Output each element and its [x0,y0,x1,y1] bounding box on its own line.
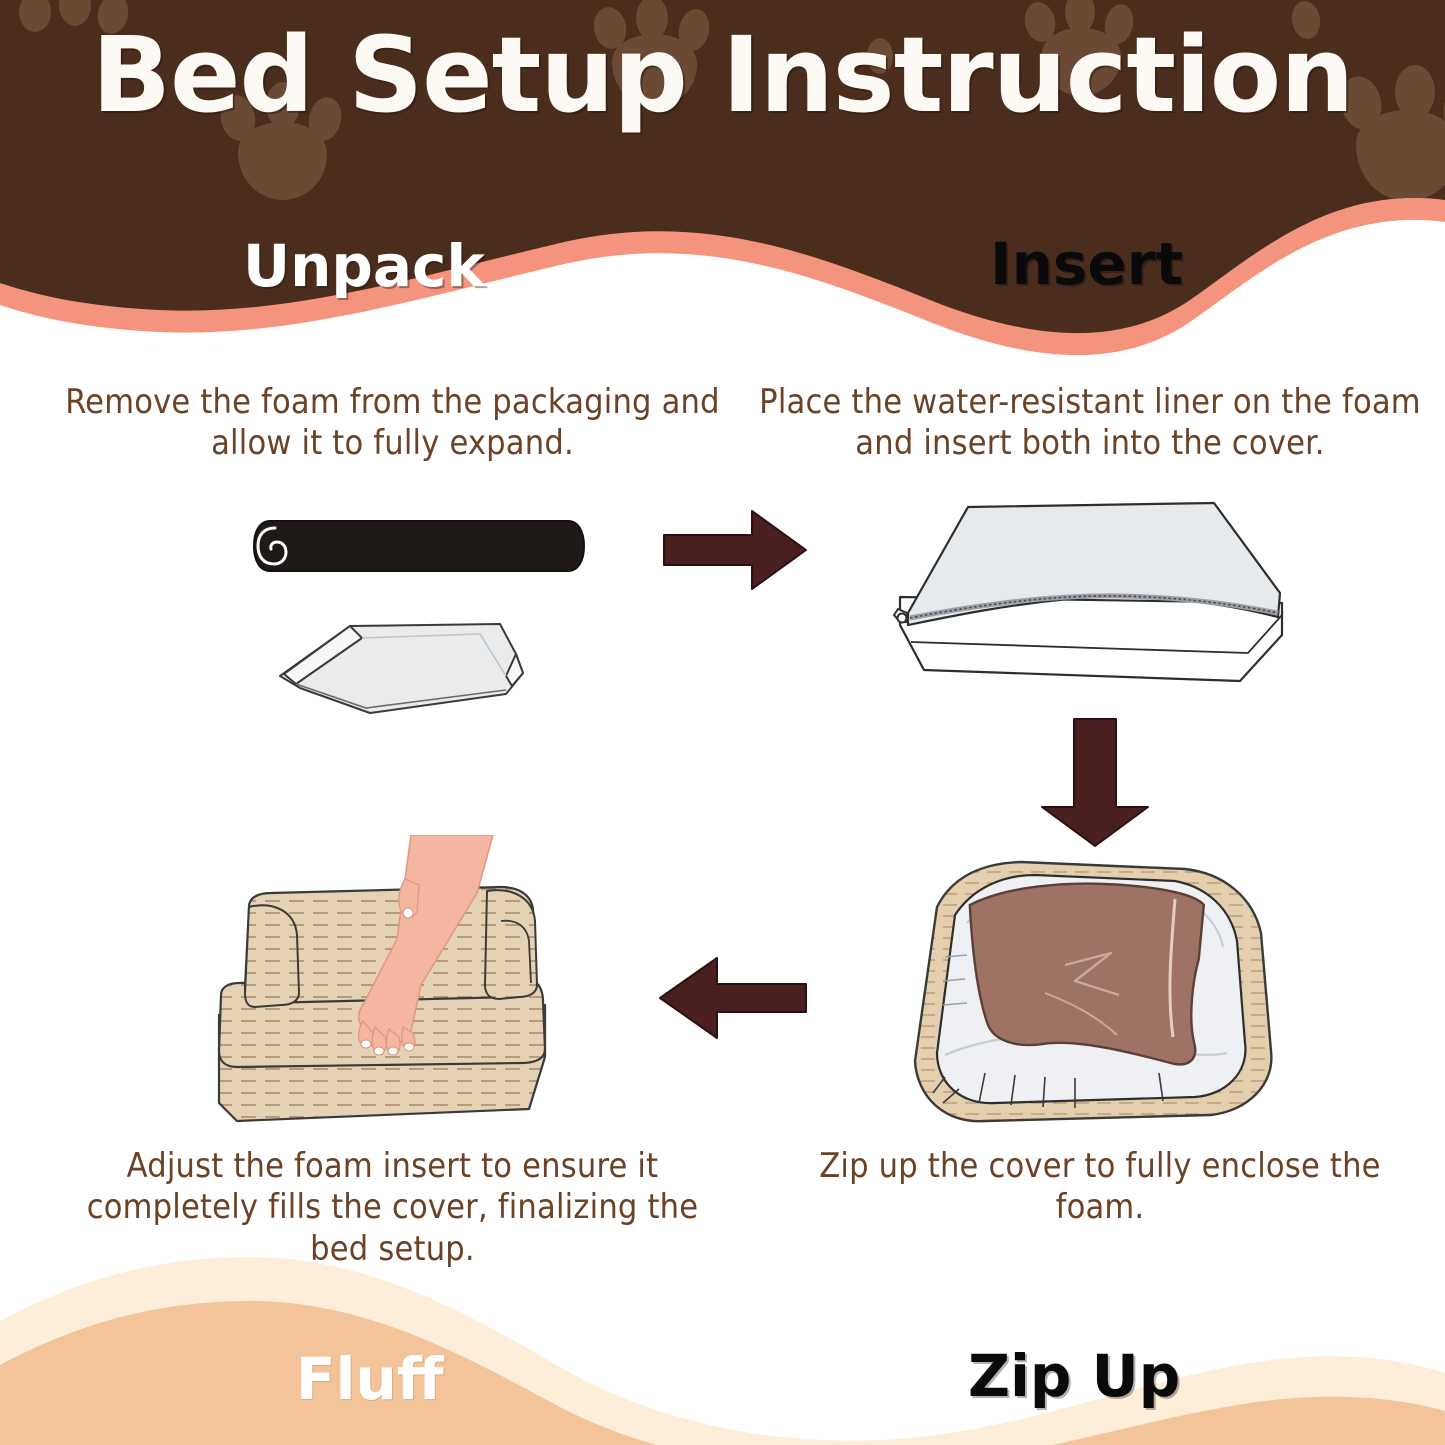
arrow-right-icon [660,505,810,595]
infographic-root: Bed Setup Instruction Unpack Insert Remo… [0,0,1445,1445]
cover-with-foam-inside-illustration [875,845,1285,1135]
footer-wave-graphic [0,1255,1445,1445]
foam-insert [969,882,1206,1068]
zippered-mattress-illustration [878,485,1303,695]
step-label-insert: Insert [990,230,1183,298]
caption-insert: Place the water-resistant liner on the f… [755,382,1425,465]
caption-zipup: Zip up the cover to fully enclose the fo… [790,1146,1410,1229]
liner-sheet-icon [280,624,523,713]
caption-unpack: Remove the foam from the packaging and a… [60,382,725,465]
arrow-down-icon [1030,715,1160,850]
arrow-left-icon [655,952,810,1044]
foam-roll-and-liner-illustration [250,498,595,723]
hand-pressing-bed-illustration [215,835,645,1135]
step-label-zipup: Zip Up [968,1342,1180,1410]
caption-fluff: Adjust the foam insert to ensure it comp… [55,1146,730,1270]
step-label-unpack: Unpack [243,232,485,300]
page-title: Bed Setup Instruction [0,14,1445,136]
rolled-foam-icon [254,521,584,571]
step-label-fluff: Fluff [296,1345,444,1413]
mattress-body [894,503,1282,681]
